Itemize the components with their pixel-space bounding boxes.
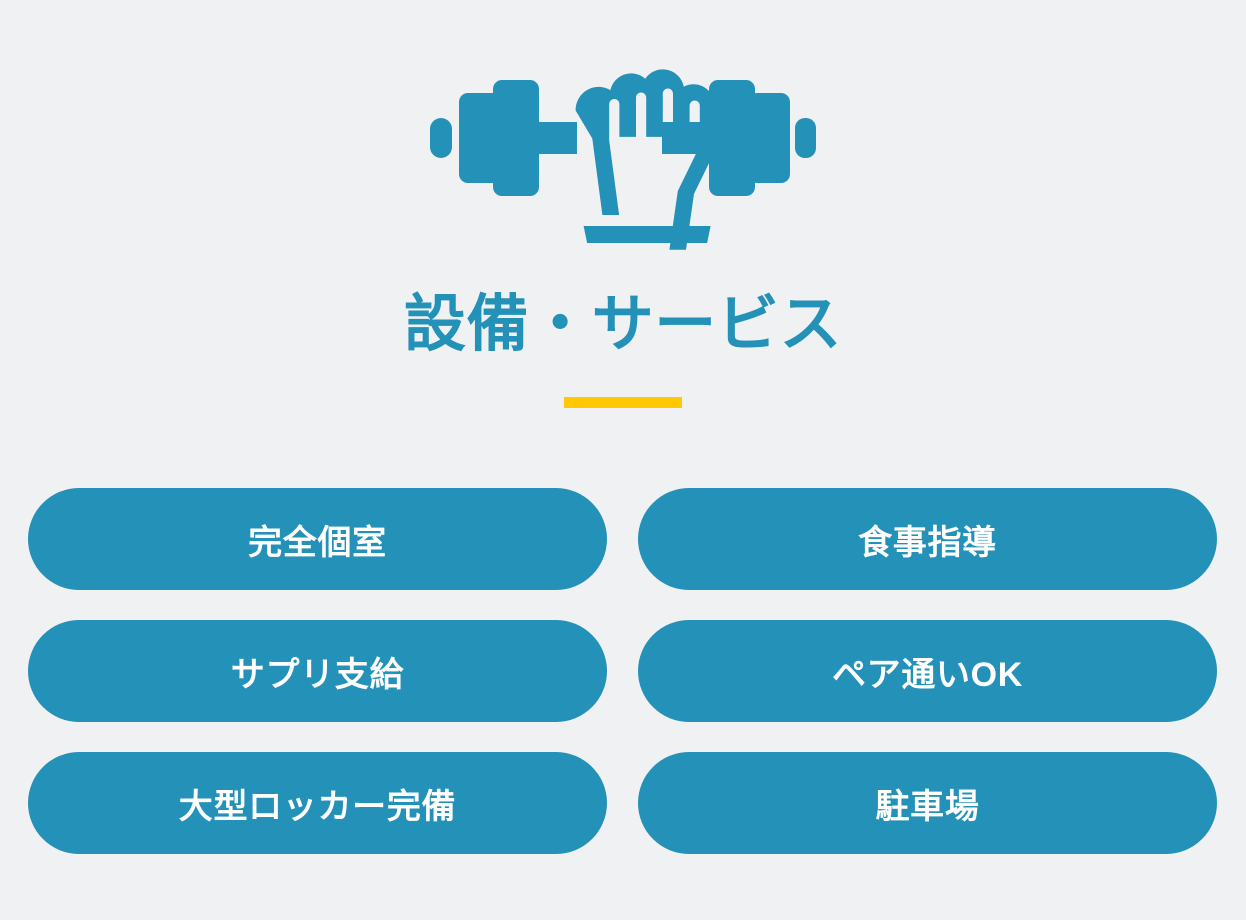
section-header: 設備・サービス	[0, 0, 1246, 408]
feature-pill-grid: 完全個室 食事指導 サプリ支給 ペア通いOK 大型ロッカー完備 駐車場	[28, 488, 1217, 854]
feature-pill-large-locker[interactable]: 大型ロッカー完備	[28, 752, 607, 854]
feature-pill-parking[interactable]: 駐車場	[638, 752, 1217, 854]
feature-pill-diet-coaching[interactable]: 食事指導	[638, 488, 1217, 590]
feature-pill-pair-ok[interactable]: ペア通いOK	[638, 620, 1217, 722]
feature-pill-supplements[interactable]: サプリ支給	[28, 620, 607, 722]
page-title: 設備・サービス	[0, 292, 1246, 359]
dumbbell-hand-icon	[430, 62, 816, 258]
feature-pill-private-room[interactable]: 完全個室	[28, 488, 607, 590]
feature-section: 設備・サービス 完全個室 食事指導 サプリ支給 ペア通いOK 大型ロッカー完備 …	[0, 0, 1246, 920]
title-underline-rule	[564, 397, 682, 408]
